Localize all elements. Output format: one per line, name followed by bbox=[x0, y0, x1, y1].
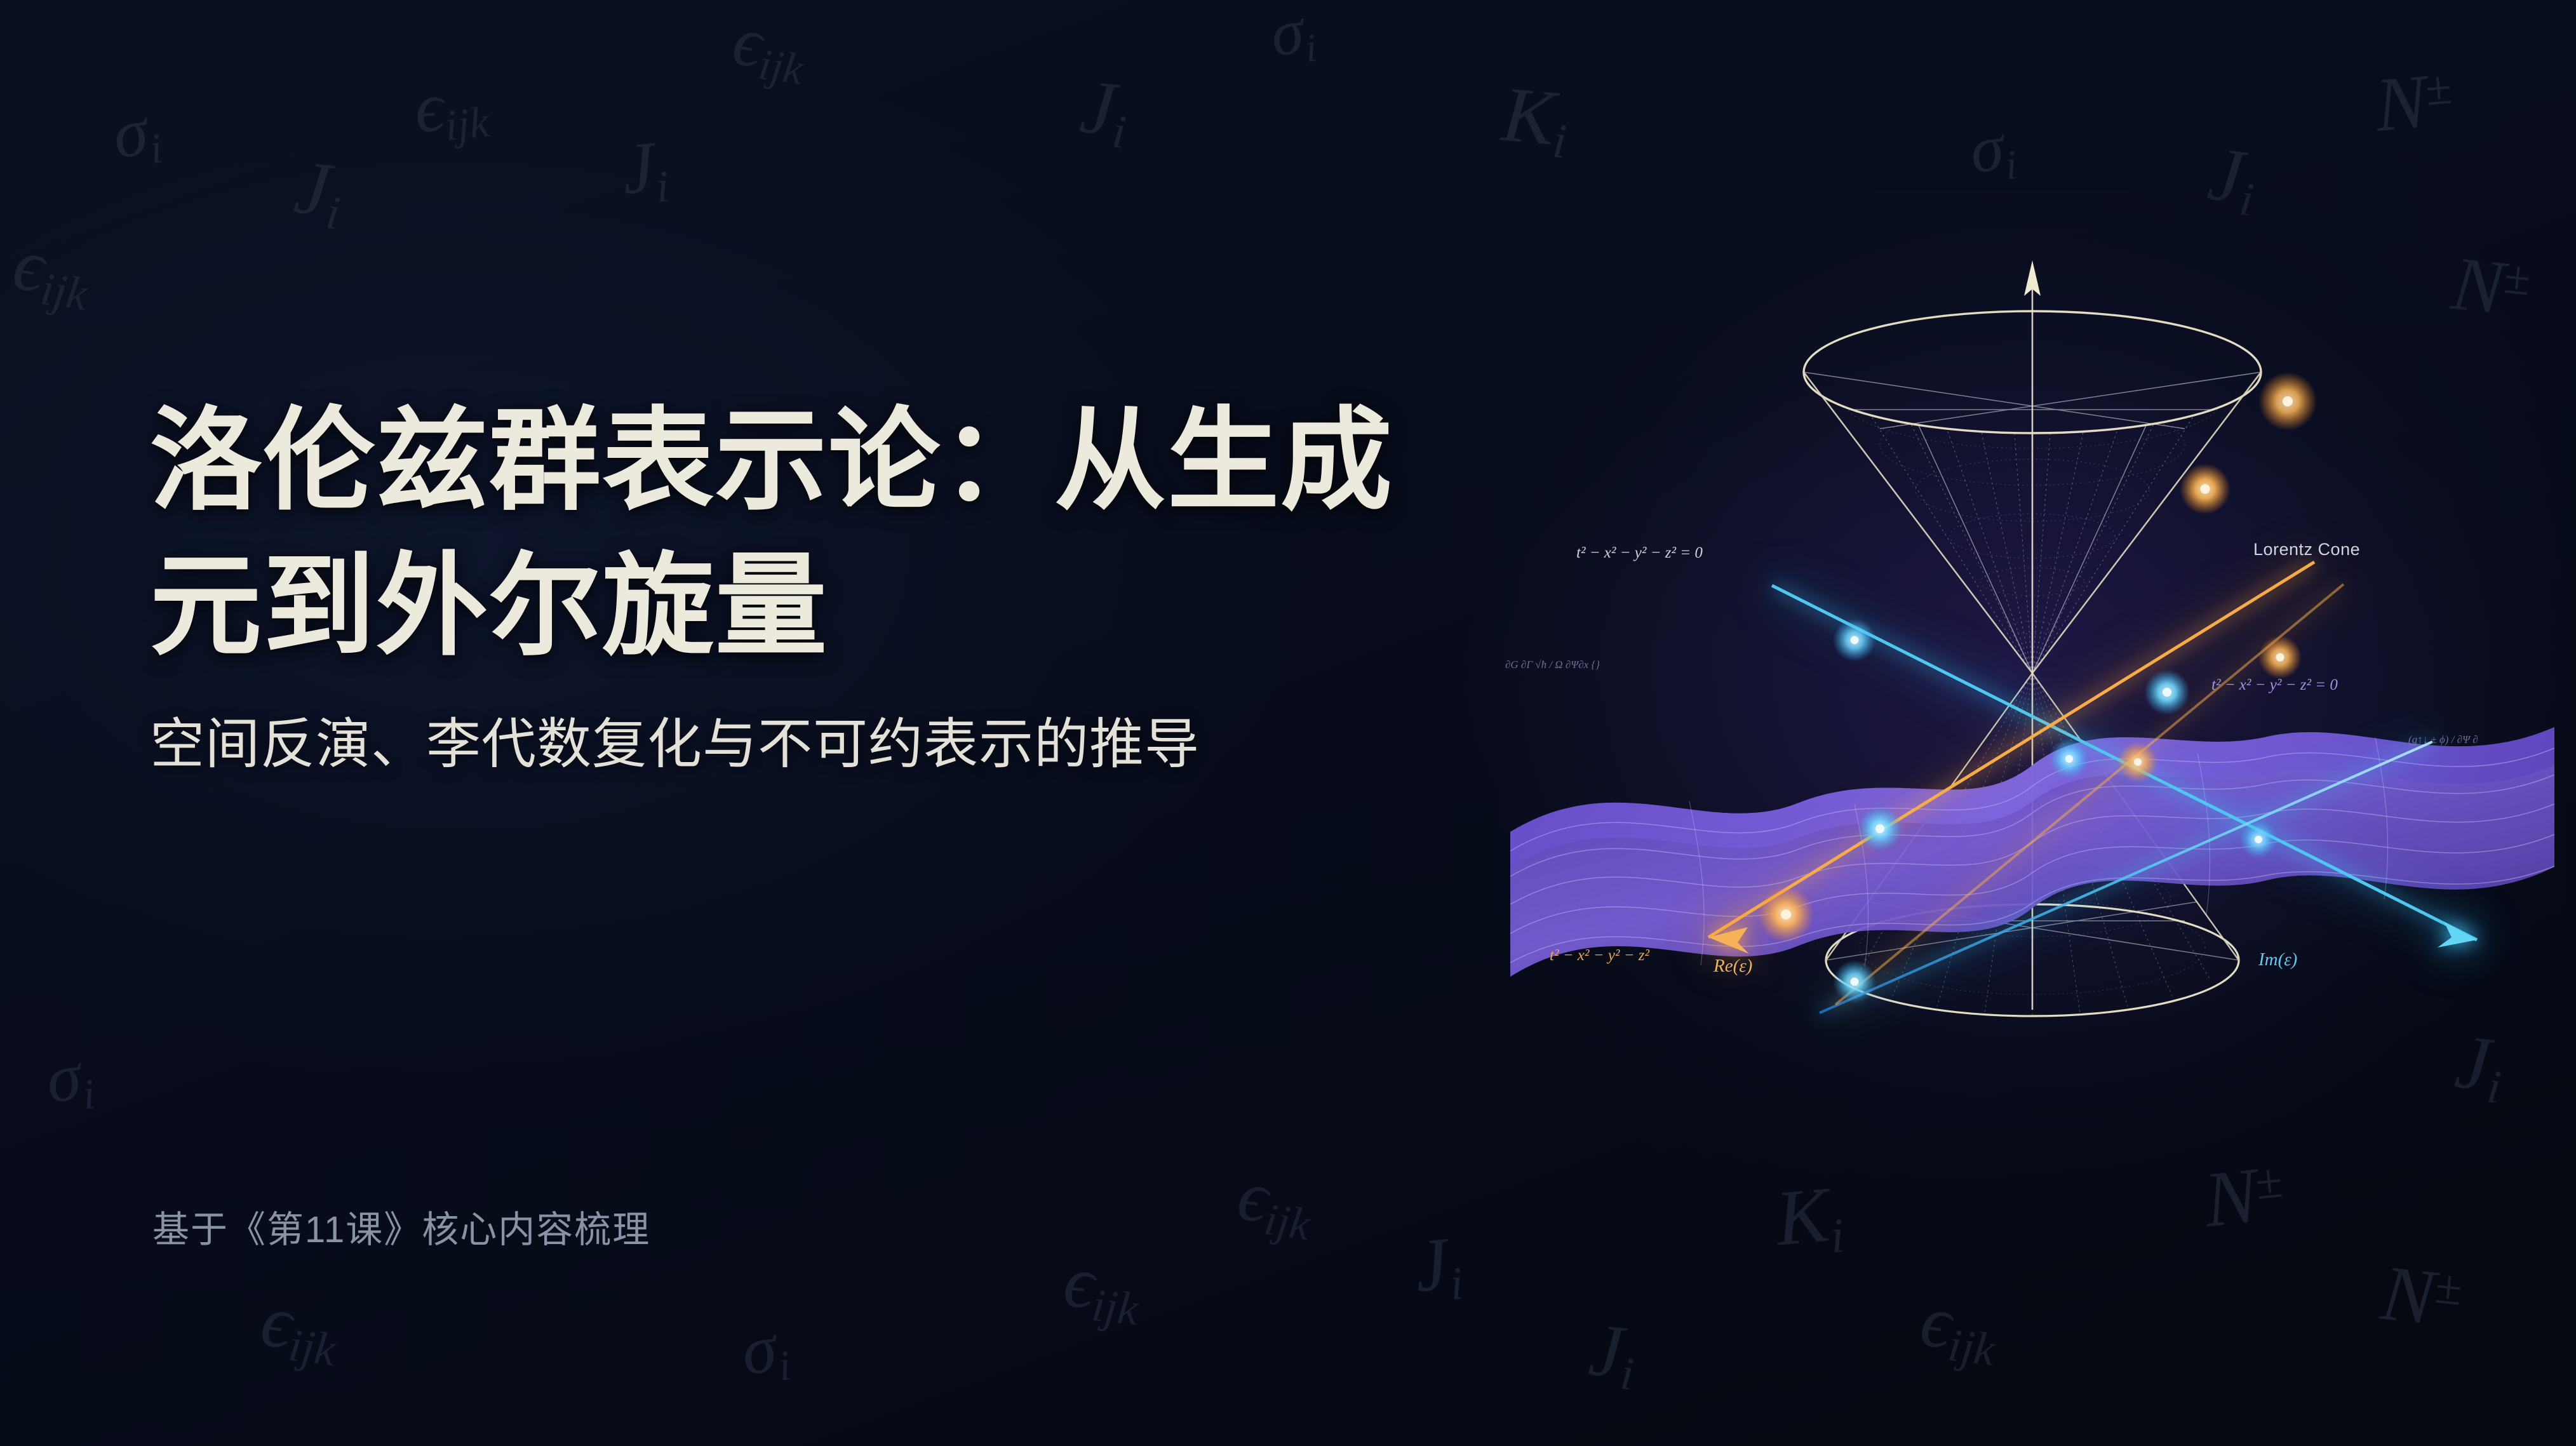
background-symbol: ϵijk bbox=[1060, 1244, 1144, 1332]
lorentz-cone-illustration: Lorentz Cone t² − x² − y² − z² = 0 t² − … bbox=[1499, 191, 2566, 1181]
background-symbol: ϵijk bbox=[257, 1283, 342, 1373]
imaginary-axis-label: Im(ε) bbox=[2258, 949, 2297, 970]
title-slide: σiJiϵijkϵijkJiJiσiKiσiJiN±ϵijkN±σiJiϵijk… bbox=[0, 0, 2576, 1446]
lorentz-cone-label: Lorentz Cone bbox=[2253, 540, 2360, 559]
background-symbol: Ji bbox=[1077, 69, 1132, 157]
page-footnote: 基于《第11课》核心内容梳理 bbox=[152, 1200, 650, 1253]
background-symbol: σi bbox=[1267, 0, 1318, 72]
background-symbol: ϵijk bbox=[8, 227, 95, 318]
equation-lower: t² − x² − y² − z² bbox=[1550, 947, 1649, 964]
background-symbol: ϵijk bbox=[1915, 1283, 2001, 1373]
background-symbol: Ji bbox=[619, 130, 670, 213]
background-symbol: σi bbox=[738, 1312, 794, 1393]
page-title: 洛伦兹群表示论：从生成 元到外尔旋量 bbox=[150, 389, 1623, 679]
background-symbol: σi bbox=[43, 1040, 97, 1120]
background-symbol: N± bbox=[2378, 1254, 2465, 1340]
background-symbol: Ki bbox=[1498, 75, 1572, 167]
background-symbol: Ki bbox=[1773, 1174, 1846, 1266]
background-symbol: ϵijk bbox=[728, 6, 810, 91]
background-symbol: σi bbox=[1967, 112, 2019, 191]
title-text-block: 洛伦兹群表示论：从生成 元到外尔旋量 空间反演、李代数复化与不可约表示的推导 bbox=[150, 389, 1623, 781]
background-symbol: N± bbox=[2372, 61, 2456, 144]
background-symbol: Ji bbox=[1586, 1313, 1639, 1398]
page-subtitle: 空间反演、李代数复化与不可约表示的推导 bbox=[150, 707, 1623, 781]
background-symbol: σi bbox=[108, 95, 165, 176]
decorative-fraction-right: (g↑↓ ± ϕ) / ∂Ψ ∂ bbox=[2408, 733, 2478, 746]
background-symbol: Ji bbox=[1411, 1225, 1466, 1310]
real-axis-label: Re(ε) bbox=[1713, 956, 1752, 976]
background-symbol: ϵijk bbox=[411, 67, 491, 151]
background-symbol: ϵijk bbox=[1233, 1159, 1318, 1249]
equation-right: t² − x² − y² − z² = 0 bbox=[2211, 676, 2338, 693]
background-symbol: Ji bbox=[290, 149, 347, 238]
